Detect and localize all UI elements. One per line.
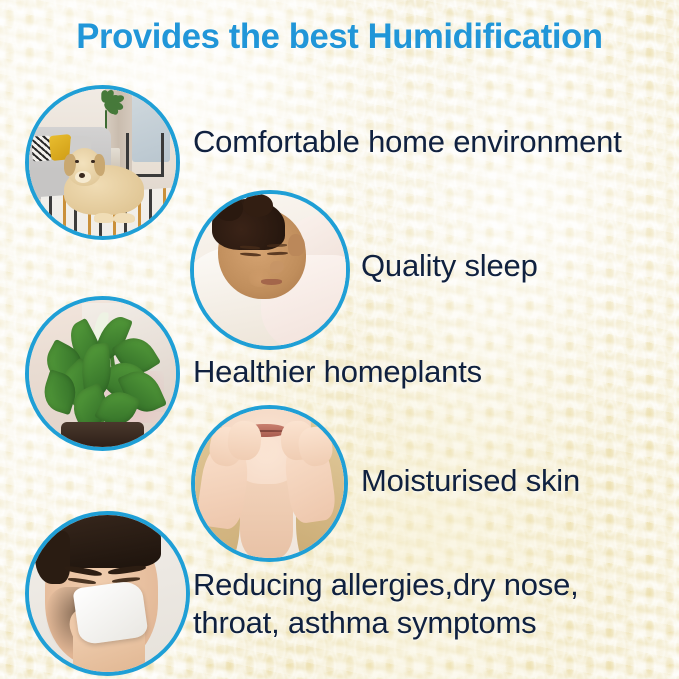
page-title: Provides the best Humidification: [3, 18, 675, 56]
humidifier-benefits-poster: Provides the best Humidification: [0, 0, 679, 679]
feature-image-quality-sleep: [190, 190, 350, 350]
photo-dog-living-room: [29, 89, 176, 236]
photo-sleeping-baby: [194, 194, 346, 346]
feature-caption-reducing-allergies: Reducing allergies,dry nose, throat, ast…: [193, 566, 579, 642]
feature-image-comfortable-home-environment: [25, 85, 180, 240]
photo-woman-touching-face: [195, 409, 344, 558]
feature-caption-healthier-homeplants: Healthier homeplants: [193, 353, 482, 391]
feature-caption-comfortable-home-environment: Comfortable home environment: [193, 123, 622, 161]
feature-caption-quality-sleep: Quality sleep: [361, 247, 538, 285]
feature-image-moisturised-skin: [191, 405, 348, 562]
photo-peace-lily-plant: [29, 300, 176, 447]
feature-image-healthier-homeplants: [25, 296, 180, 451]
photo-man-sneezing: [29, 515, 186, 672]
feature-caption-moisturised-skin: Moisturised skin: [361, 462, 580, 500]
feature-image-reducing-allergies: [25, 511, 190, 676]
